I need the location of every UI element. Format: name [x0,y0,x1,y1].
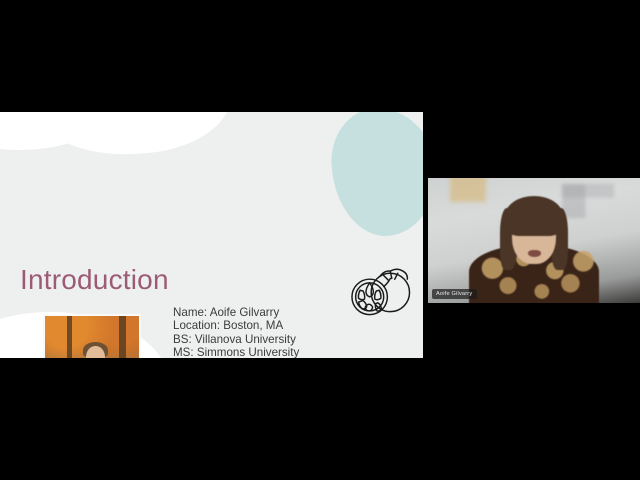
slide-line-bs: BS: Villanova University [173,333,352,346]
slide-title: Introduction [20,264,169,296]
video-blur-overlay [428,178,640,303]
participant-name-label: Aoife Gilvarry [432,289,477,299]
tomato-illustration-icon [344,260,416,322]
slide-line-ms: MS: Simmons University [173,346,352,358]
shared-slide[interactable]: Introduction Name: Aoife Gilvarry Locati… [0,112,423,358]
decorative-blob-teal [329,112,423,239]
meeting-screen: Introduction Name: Aoife Gilvarry Locati… [0,0,640,480]
slide-line-location: Location: Boston, MA [173,319,352,332]
slide-line-name: Name: Aoife Gilvarry [173,306,352,319]
participant-video-tile[interactable]: Aoife Gilvarry [428,178,640,303]
slide-body-text: Name: Aoife Gilvarry Location: Boston, M… [173,306,352,358]
decorative-blob-top-left-b [34,112,237,164]
slide-portrait-photo [43,314,141,358]
